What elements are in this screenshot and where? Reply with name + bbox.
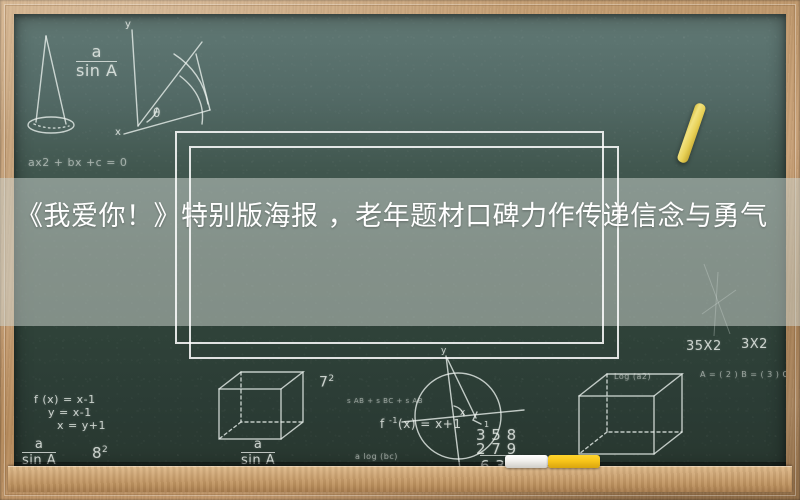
chalk-log-note: a log (bc) — [355, 452, 398, 461]
chalk-function-y: y = x-1 — [48, 406, 92, 419]
chalk-function-fx: f (x) = x-1 — [34, 393, 96, 406]
chalk-sum-row-1: 3 5 8 — [476, 426, 517, 444]
fraction-numerator: a — [76, 44, 117, 61]
chalkboard-banner: a sin A y x θ ax2 + bx +c = 0 f (x) = x-… — [0, 0, 800, 500]
cone-right-edge — [36, 36, 46, 122]
inner-ray-topleft — [196, 54, 210, 110]
cone-base-dashes — [34, 124, 69, 128]
chalk-function-x: x = y+1 — [57, 419, 106, 432]
cube-right-face — [281, 372, 303, 439]
chalk-multiplication-2: 3X2 — [741, 337, 768, 352]
cube-top-face — [219, 372, 303, 389]
axis-y-line-topleft — [132, 30, 138, 126]
cube2-right-face — [654, 374, 682, 454]
fraction-denominator: sin A — [241, 452, 275, 468]
chalk-fraction-a-sin-a-topleft: a sin A — [76, 44, 117, 80]
chalk-set-note: A = ( 2 ) B = ( 3 ) C = ( 5 ) — [700, 370, 786, 379]
angle-arc-topleft — [147, 108, 157, 122]
chalk-inverse-function: f -1(x) = x+1 — [380, 416, 461, 431]
cube-front-face — [219, 389, 281, 439]
cube-hidden-edge-2 — [219, 422, 241, 439]
seven-base: 7 — [319, 375, 328, 391]
chalk-axis-label-x-bottomright: x — [460, 408, 466, 418]
eight-base: 8 — [92, 444, 102, 462]
yellow-chalk-stick — [548, 455, 600, 468]
unit-circle — [415, 373, 501, 459]
circle-right-angle-mark — [473, 412, 481, 424]
chalk-seven-squared: 72 — [319, 374, 335, 391]
cube2-hidden-edges — [607, 374, 682, 432]
chalk-tiny-note: s AB + s BC + s AB — [347, 397, 423, 405]
chalk-fraction-a-sin-a-bottom-center: a sin A — [241, 438, 275, 467]
inverse-rest: (x) = x+1 — [398, 417, 461, 431]
fraction-denominator: sin A — [22, 452, 56, 468]
chalk-ledge — [8, 466, 792, 492]
chalk-fraction-a-sin-a-bottom-left: a sin A — [22, 438, 56, 467]
faint-scribble-3 — [702, 290, 736, 314]
circle-axis-x — [402, 410, 524, 422]
inverse-superscript: -1 — [389, 416, 398, 425]
cube-hidden-edges — [241, 372, 303, 422]
axis-x-line-topleft — [124, 110, 210, 134]
chalkboard-grain — [14, 14, 786, 469]
circle-angle-arc — [454, 406, 464, 416]
fraction-denominator: sin A — [76, 61, 117, 80]
cube2-front-face — [579, 396, 654, 454]
chalk-eight-squared: 82 — [92, 444, 108, 462]
fraction-numerator: a — [22, 438, 56, 452]
big-arc-topleft — [180, 76, 203, 124]
circle-axis-y — [446, 356, 460, 469]
chalk-drawings — [14, 14, 786, 469]
chalk-axis-label-y-bottomright: y — [441, 346, 447, 356]
big-arc2-topleft — [174, 54, 208, 104]
ray-line-topleft — [138, 42, 202, 126]
cone-left-edge — [46, 36, 66, 124]
chalk-axis-label-x-topleft: x — [115, 127, 121, 138]
faint-scribble-2 — [714, 272, 718, 336]
cube2-hidden-edge-2 — [579, 432, 607, 454]
faint-scribble-1 — [704, 264, 730, 334]
eight-exponent: 2 — [102, 445, 108, 455]
cone-base-ellipse — [28, 117, 74, 133]
inverse-f: f — [380, 417, 389, 431]
chalk-sum-carry: 1 — [484, 420, 490, 429]
white-chalk-stick — [505, 455, 548, 468]
seven-exponent: 2 — [328, 374, 334, 384]
banner-caption-text: 《我爱你！》特别版海报 ，老年题材口碑力作传递信念与勇气 — [16, 195, 796, 239]
yellow-chalk-stick-floating — [676, 102, 707, 164]
cube2-top-face — [579, 374, 682, 396]
circle-ray — [447, 358, 476, 418]
chalk-drawing-svg — [14, 14, 786, 469]
chalkboard-surface: a sin A y x θ ax2 + bx +c = 0 f (x) = x-… — [14, 14, 786, 469]
chalk-multiplication-1: 35X2 — [686, 339, 722, 354]
chalk-axis-label-y-topleft: y — [125, 19, 131, 30]
chalk-quadratic-equation: ax2 + bx +c = 0 — [28, 156, 127, 169]
chalk-angle-label-topleft: θ — [153, 106, 161, 120]
fraction-numerator: a — [241, 438, 275, 452]
chalk-log-left-note: Log (a2) — [614, 372, 651, 381]
